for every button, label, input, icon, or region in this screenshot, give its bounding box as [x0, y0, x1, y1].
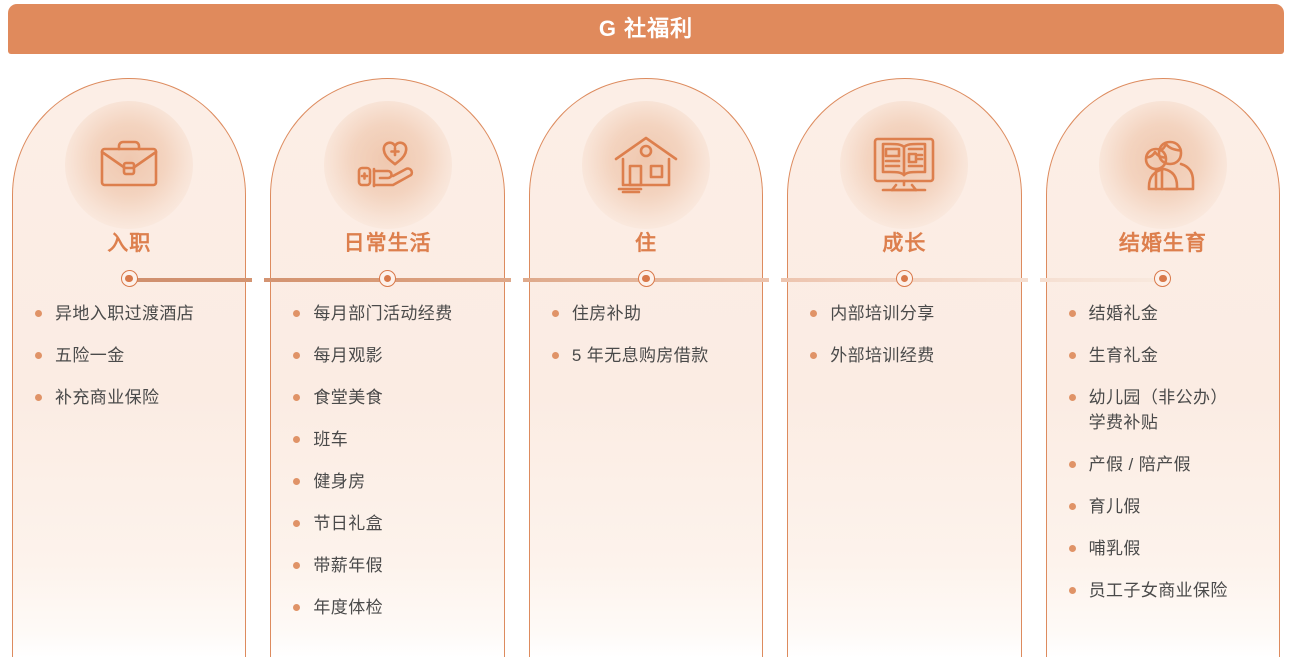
list-item: 每月观影 — [285, 343, 497, 368]
column-title: 日常生活 — [271, 229, 503, 259]
list-item: 异地入职过渡酒店 — [27, 301, 239, 326]
benefit-column: 入职异地入职过渡酒店五险一金补充商业保险 — [6, 78, 252, 657]
list-item-label: 幼儿园（非公办） — [1089, 385, 1228, 410]
hand-holding-heart-icon — [324, 101, 452, 229]
list-item: 幼儿园（非公办） — [1061, 385, 1273, 410]
list-item-label: 健身房 — [313, 469, 365, 494]
list-item: 健身房 — [285, 469, 497, 494]
bullet-dot-icon — [293, 310, 300, 317]
timeline-node — [379, 270, 396, 287]
list-item: 补充商业保险 — [27, 385, 239, 410]
list-item: 节日礼盒 — [285, 511, 497, 536]
bullet-dot-icon — [293, 478, 300, 485]
benefits-infographic: G 社福利 入职异地入职过渡酒店五险一金补充商业保险 日常生活每月部门活动经费每… — [0, 0, 1292, 657]
benefit-column: 日常生活每月部门活动经费每月观影食堂美食班车健身房节日礼盒带薪年假年度体检 — [264, 78, 510, 657]
arch-card: 日常生活每月部门活动经费每月观影食堂美食班车健身房节日礼盒带薪年假年度体检 — [270, 78, 504, 657]
bullet-spacer — [1069, 419, 1076, 426]
bullet-dot-icon — [293, 604, 300, 611]
connector-gap — [1028, 268, 1040, 292]
list-item-label: 内部培训分享 — [830, 301, 934, 326]
list-item: 员工子女商业保险 — [1061, 578, 1273, 603]
benefit-list: 内部培训分享外部培训经费 — [802, 301, 1014, 385]
bullet-dot-icon — [552, 352, 559, 359]
column-title: 住 — [530, 229, 762, 259]
benefit-columns: 入职异地入职过渡酒店五险一金补充商业保险 日常生活每月部门活动经费每月观影食堂美… — [0, 78, 1292, 657]
bullet-dot-icon — [35, 394, 42, 401]
benefit-list: 每月部门活动经费每月观影食堂美食班车健身房节日礼盒带薪年假年度体检 — [285, 301, 497, 637]
list-item: 生育礼金 — [1061, 343, 1273, 368]
list-item: 育儿假 — [1061, 494, 1273, 519]
list-item-label: 补充商业保险 — [55, 385, 159, 410]
bullet-dot-icon — [1069, 461, 1076, 468]
bullet-dot-icon — [810, 352, 817, 359]
header-banner: G 社福利 — [8, 4, 1284, 54]
list-item-label: 年度体检 — [313, 595, 383, 620]
bullet-dot-icon — [293, 394, 300, 401]
list-item-label: 5 年无息购房借款 — [572, 343, 709, 368]
list-item-label: 哺乳假 — [1089, 536, 1141, 561]
list-item-label: 每月部门活动经费 — [313, 301, 452, 326]
bullet-dot-icon — [1069, 394, 1076, 401]
bullet-dot-icon — [293, 520, 300, 527]
connector-gap — [769, 268, 781, 292]
list-item-label: 住房补助 — [572, 301, 642, 326]
bullet-dot-icon — [293, 436, 300, 443]
bullet-dot-icon — [293, 562, 300, 569]
arch-card: 结婚生育结婚礼金生育礼金幼儿园（非公办）学费补贴产假 / 陪产假育儿假哺乳假员工… — [1046, 78, 1280, 657]
list-item-label: 产假 / 陪产假 — [1089, 452, 1191, 477]
list-item: 每月部门活动经费 — [285, 301, 497, 326]
icon-area — [13, 101, 245, 229]
list-item: 外部培训经费 — [802, 343, 1014, 368]
icon-area — [788, 101, 1020, 229]
timeline-node — [638, 270, 655, 287]
timeline-node — [896, 270, 913, 287]
benefit-column: 结婚生育结婚礼金生育礼金幼儿园（非公办）学费补贴产假 / 陪产假育儿假哺乳假员工… — [1040, 78, 1286, 657]
list-item: 哺乳假 — [1061, 536, 1273, 561]
list-item-label: 生育礼金 — [1089, 343, 1159, 368]
list-item-label: 育儿假 — [1089, 494, 1141, 519]
bullet-dot-icon — [35, 352, 42, 359]
icon-area — [271, 101, 503, 229]
bullet-dot-icon — [1069, 545, 1076, 552]
list-item: 5 年无息购房借款 — [544, 343, 756, 368]
bullet-dot-icon — [552, 310, 559, 317]
column-title: 成长 — [788, 229, 1020, 259]
bullet-dot-icon — [1069, 587, 1076, 594]
column-title: 结婚生育 — [1047, 229, 1279, 259]
list-item-label: 每月观影 — [313, 343, 383, 368]
column-title: 入职 — [13, 229, 245, 259]
list-item: 带薪年假 — [285, 553, 497, 578]
list-item: 食堂美食 — [285, 385, 497, 410]
list-item: 结婚礼金 — [1061, 301, 1273, 326]
list-item-continuation-label: 学费补贴 — [1089, 410, 1159, 435]
arch-card: 入职异地入职过渡酒店五险一金补充商业保险 — [12, 78, 246, 657]
list-item: 住房补助 — [544, 301, 756, 326]
list-item-label: 食堂美食 — [313, 385, 383, 410]
connector-gap — [511, 268, 523, 292]
list-item: 内部培训分享 — [802, 301, 1014, 326]
list-item: 班车 — [285, 427, 497, 452]
benefit-column: 住住房补助5 年无息购房借款 — [523, 78, 769, 657]
list-item: 产假 / 陪产假 — [1061, 452, 1273, 477]
list-item-label: 带薪年假 — [313, 553, 383, 578]
list-item-label: 员工子女商业保险 — [1089, 578, 1228, 603]
icon-area — [1047, 101, 1279, 229]
list-item: 五险一金 — [27, 343, 239, 368]
list-item-label: 节日礼盒 — [313, 511, 383, 536]
list-item-continuation: 学费补贴 — [1061, 410, 1273, 435]
monitor-book-icon — [840, 101, 968, 229]
benefit-column: 成长内部培训分享外部培训经费 — [781, 78, 1027, 657]
list-item-label: 外部培训经费 — [830, 343, 934, 368]
page-title: G 社福利 — [599, 18, 693, 40]
arch-card: 住住房补助5 年无息购房借款 — [529, 78, 763, 657]
house-icon — [582, 101, 710, 229]
bullet-dot-icon — [35, 310, 42, 317]
bullet-dot-icon — [1069, 503, 1076, 510]
list-item: 年度体检 — [285, 595, 497, 620]
bullet-dot-icon — [1069, 352, 1076, 359]
timeline-node — [121, 270, 138, 287]
list-item-label: 异地入职过渡酒店 — [55, 301, 194, 326]
list-item-label: 结婚礼金 — [1089, 301, 1159, 326]
briefcase-icon — [65, 101, 193, 229]
bullet-dot-icon — [293, 352, 300, 359]
connector-gap — [252, 268, 264, 292]
bullet-dot-icon — [810, 310, 817, 317]
benefit-list: 异地入职过渡酒店五险一金补充商业保险 — [27, 301, 239, 427]
list-item-label: 班车 — [313, 427, 348, 452]
list-item-label: 五险一金 — [55, 343, 125, 368]
benefit-list: 结婚礼金生育礼金幼儿园（非公办）学费补贴产假 / 陪产假育儿假哺乳假员工子女商业… — [1061, 301, 1273, 620]
benefit-list: 住房补助5 年无息购房借款 — [544, 301, 756, 385]
icon-area — [530, 101, 762, 229]
bullet-dot-icon — [1069, 310, 1076, 317]
arch-card: 成长内部培训分享外部培训经费 — [787, 78, 1021, 657]
couple-icon — [1099, 101, 1227, 229]
